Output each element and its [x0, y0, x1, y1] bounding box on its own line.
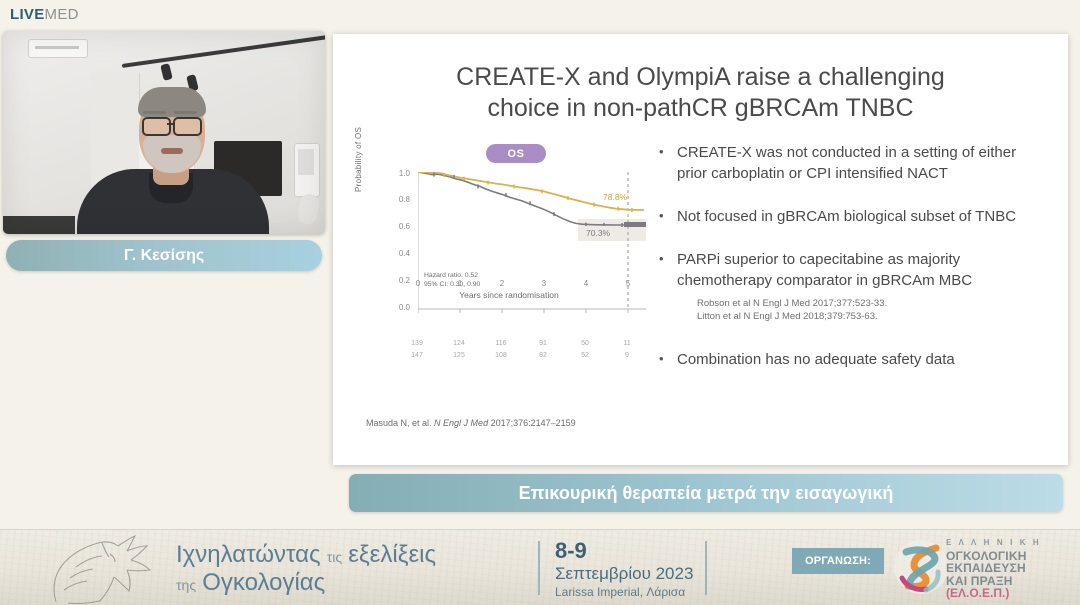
gold-endpoint-label: 78.8% — [603, 192, 627, 202]
risk-cell: 125 — [448, 352, 470, 359]
chart-y-axis-label: Probability of OS — [354, 127, 363, 192]
slide-title-line-1: CREATE-X and OlympiA raise a challenging — [373, 62, 1028, 93]
event-title-line-2: της Ογκολογίας — [176, 570, 436, 598]
footer-divider — [705, 541, 707, 595]
risk-cell: 11 — [616, 340, 638, 347]
bullet-citation: Robson et al N Engl J Med 2017;377:523-3… — [697, 297, 1045, 310]
x-tick-label: 1 — [453, 279, 467, 288]
risk-cell: 124 — [448, 340, 470, 347]
video-vignette — [3, 31, 325, 234]
x-tick-label: 2 — [495, 279, 509, 288]
risk-cell: 52 — [574, 352, 596, 359]
y-tick-label: 0.8 — [390, 195, 410, 204]
event-footer: Ιχνηλατώντας τις εξελίξεις της Ογκολογία… — [0, 529, 1080, 605]
event-title: Ιχνηλατώντας τις εξελίξεις της Ογκολογία… — [176, 542, 436, 598]
event-date-block: 8-9 Σεπτεμβρίου 2023 Larissa Imperial, Λ… — [555, 539, 693, 600]
numbers-at-risk-row: 139 124 116 91 50 11 — [366, 340, 666, 351]
event-title-small-1: τις — [327, 549, 342, 565]
bullet-item: Not focused in gBRCAm biological subset … — [655, 206, 1045, 227]
chart-title-pill: OS — [486, 144, 546, 163]
organizer-label-text: ΟΡΓΑΝΩΣΗ: — [805, 555, 871, 567]
eloep-line-1: Ε Λ Λ Η Ν Ι Κ Η — [946, 537, 1041, 550]
presentation-slide[interactable]: CREATE-X and OlympiA raise a challenging… — [333, 34, 1068, 465]
bullet-item: CREATE-X was not conducted in a setting … — [655, 142, 1045, 184]
livemed-logo: LIVEMED — [10, 6, 79, 23]
numbers-at-risk-row: 147 125 108 82 52 9 — [366, 352, 666, 363]
event-title-strong-1: Ιχνηλατώντας — [176, 541, 321, 568]
source-suffix: 2017;376:2147–2159 — [488, 418, 576, 428]
risk-cell: 82 — [532, 352, 554, 359]
bullet-item: Combination has no adequate safety data — [655, 349, 1045, 370]
grey-endpoint-label: 70.3% — [580, 226, 616, 240]
risk-cell: 108 — [490, 352, 512, 359]
y-tick-label: 0.4 — [390, 249, 410, 258]
app-root: LIVEMED — [0, 0, 1080, 604]
y-tick-label: 1.0 — [390, 169, 410, 178]
event-month: Σεπτεμβρίου 2023 — [555, 563, 693, 584]
risk-cell: 147 — [406, 352, 428, 359]
source-prefix: Masuda N, et al. — [366, 418, 434, 428]
eloep-line-5: (ΕΛ.Ο.Ε.Π.) — [946, 587, 1041, 600]
source-journal: N Engl J Med — [434, 418, 488, 428]
event-title-strong-1b: εξελίξεις — [348, 541, 436, 568]
horse-head-illustration — [14, 534, 164, 605]
risk-cell: 9 — [616, 352, 638, 359]
session-title-bar: Επικουρική θεραπεία μετρά την εισαγωγική — [349, 474, 1063, 512]
speaker-name-badge: Γ. Κεσίσης — [6, 240, 322, 271]
x-tick-label: 0 — [411, 279, 425, 288]
chart-x-axis-label: Years since randomisation — [414, 290, 604, 300]
x-tick-label: 3 — [537, 279, 551, 288]
x-tick-label: 5 — [621, 279, 635, 288]
bullet-item: PARPi superior to capecitabine as majori… — [655, 249, 1045, 291]
event-title-strong-2: Ογκολογίας — [202, 569, 325, 596]
os-kaplan-meier-chart: OS Probability of OS 1.0 0.8 0.6 0.4 0.2… — [366, 140, 666, 390]
event-venue: Larissa Imperial, Λάρισα — [555, 584, 693, 600]
event-days: 8-9 — [555, 539, 693, 563]
bullet-citation: Litton et al N Engl J Med 2018;379:753-6… — [697, 310, 1045, 323]
y-tick-label: 0.6 — [390, 222, 410, 231]
risk-cell: 139 — [406, 340, 428, 347]
speaker-video[interactable] — [3, 31, 325, 234]
slide-title: CREATE-X and OlympiA raise a challenging… — [373, 62, 1028, 124]
logo-med-text: MED — [45, 6, 79, 23]
x-tick-label: 4 — [579, 279, 593, 288]
risk-cell: 50 — [574, 340, 596, 347]
session-title-text: Επικουρική θεραπεία μετρά την εισαγωγική — [519, 483, 894, 504]
footer-divider — [538, 541, 540, 595]
slide-source-citation: Masuda N, et al. N Engl J Med 2017;376:2… — [366, 418, 576, 428]
risk-cell: 116 — [490, 340, 512, 347]
eloep-line-3: ΕΚΠΑΙΔΕΥΣΗ — [946, 562, 1041, 575]
organizer-label: ΟΡΓΑΝΩΣΗ: — [792, 548, 884, 574]
slide-title-line-2: choice in non-pathCR gBRCAm TNBC — [373, 93, 1028, 124]
eloep-swirl-logo — [892, 538, 950, 596]
y-tick-label: 0.2 — [390, 276, 410, 285]
speaker-name-label: Γ. Κεσίσης — [124, 247, 204, 265]
slide-bullet-list: CREATE-X was not conducted in a setting … — [655, 142, 1045, 392]
video-frame — [3, 31, 325, 234]
y-tick-label: 0.0 — [390, 303, 410, 312]
event-title-line-1: Ιχνηλατώντας τις εξελίξεις — [176, 542, 436, 570]
event-title-small-2: της — [176, 577, 196, 593]
logo-live-text: LIVE — [10, 6, 45, 23]
eloep-name: Ε Λ Λ Η Ν Ι Κ Η ΟΓΚΟΛΟΓΙΚΗ ΕΚΠΑΙΔΕΥΣΗ ΚΑ… — [946, 537, 1041, 600]
risk-cell: 91 — [532, 340, 554, 347]
